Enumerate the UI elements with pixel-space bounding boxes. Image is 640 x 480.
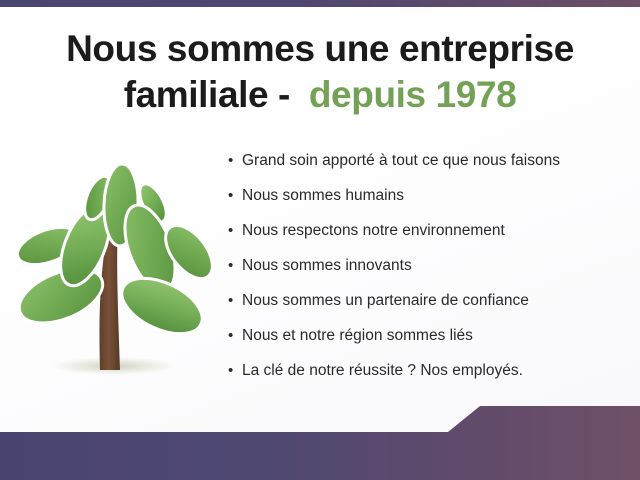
list-item: • Nous et notre région sommes liés [228, 325, 628, 360]
list-item: • Grand soin apporté à tout ce que nous … [228, 150, 628, 185]
bullet-icon: • [228, 325, 242, 347]
benefits-list: • Grand soin apporté à tout ce que nous … [228, 150, 628, 395]
page-title: Nous sommes une entreprise familiale - d… [0, 26, 640, 118]
list-item-label: Nous sommes humains [242, 185, 404, 207]
list-item-label: Nous et notre région sommes liés [242, 325, 473, 347]
list-item: • Nous respectons notre environnement [228, 220, 628, 255]
bullet-icon: • [228, 360, 242, 382]
bullet-icon: • [228, 220, 242, 242]
banner-shape [0, 400, 640, 480]
headline-line-2: familiale - depuis 1978 [0, 72, 640, 118]
headline-accent: depuis 1978 [309, 74, 516, 115]
list-item-label: La clé de notre réussite ? Nos employés. [242, 360, 523, 382]
headline-line-2-plain: familiale - [124, 74, 300, 115]
list-item-label: Nous sommes innovants [242, 255, 412, 277]
bullet-icon: • [228, 290, 242, 312]
bullet-icon: • [228, 185, 242, 207]
tree-icon [14, 148, 224, 398]
list-item: • Nous sommes humains [228, 185, 628, 220]
list-item: • Nous sommes innovants [228, 255, 628, 290]
list-item-label: Grand soin apporté à tout ce que nous fa… [242, 150, 560, 172]
tree-illustration [14, 148, 224, 398]
slide-canvas: Nous sommes une entreprise familiale - d… [0, 0, 640, 480]
top-accent-bar [0, 0, 640, 7]
bullet-icon: • [228, 150, 242, 172]
list-item-label: Nous sommes un partenaire de confiance [242, 290, 529, 312]
list-item: • Nous sommes un partenaire de confiance [228, 290, 628, 325]
headline-line-1: Nous sommes une entreprise [66, 28, 574, 69]
list-item-label: Nous respectons notre environnement [242, 220, 505, 242]
bullet-icon: • [228, 255, 242, 277]
footer-banner: tabor-automobiles.fr [0, 400, 640, 480]
list-item: • La clé de notre réussite ? Nos employé… [228, 360, 628, 395]
